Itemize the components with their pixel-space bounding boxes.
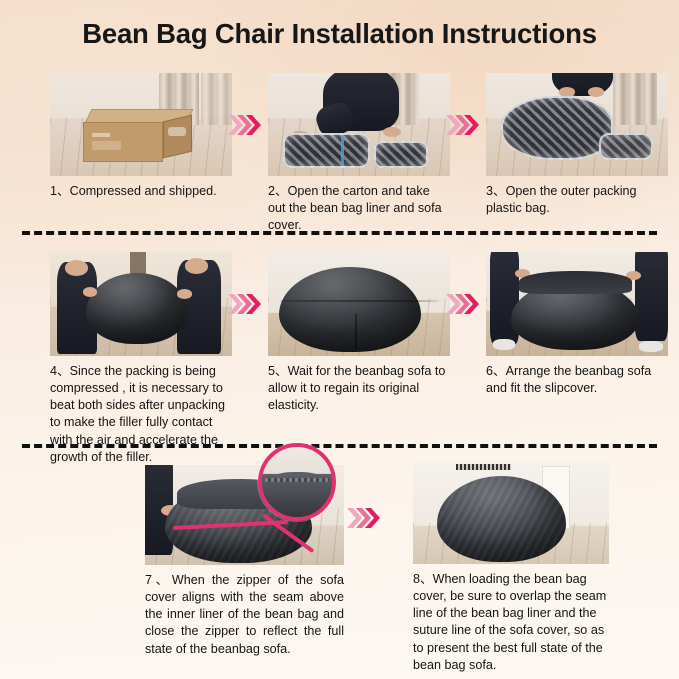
step-8-cell: 8、When loading the bean bag cover, be su… — [413, 462, 609, 674]
step-6-caption: 6、Arrange the beanbag sofa and fit the s… — [486, 363, 668, 397]
step-2-cell: 2、Open the carton and take out the bean … — [268, 73, 450, 234]
step-7-cell: 7、When the zipper of the sofa cover alig… — [145, 465, 344, 658]
step-5-cell: 5、Wait for the beanbag sofa to allow it … — [268, 252, 450, 414]
step-7-caption: 7、When the zipper of the sofa cover alig… — [145, 572, 344, 658]
step-7-photo-align-zipper — [145, 465, 344, 565]
step-8-caption: 8、When loading the bean bag cover, be su… — [413, 571, 609, 674]
infographic-poster: Bean Bag Chair Installation Instructions… — [0, 0, 679, 679]
step-6-photo-fit-slipcover — [486, 252, 668, 356]
step-2-photo-vacuum-bags — [268, 73, 450, 176]
step-3-caption: 3、Open the outer packing plastic bag. — [486, 183, 668, 217]
step-3-photo-open-plastic-bag — [486, 73, 668, 176]
step-1-caption: 1、Compressed and shipped. — [50, 183, 232, 200]
step-1-cell: 1、Compressed and shipped. — [50, 73, 232, 200]
step-5-photo-regain-elasticity — [268, 252, 450, 356]
step-4-caption: 4、Since the packing is being compressed … — [50, 363, 232, 466]
step-8-photo-finished-beanbag — [413, 462, 609, 564]
step-5-caption: 5、Wait for the beanbag sofa to allow it … — [268, 363, 450, 414]
step-1-photo-carton — [50, 73, 232, 176]
step-4-photo-beat-sides — [50, 252, 232, 356]
step-2-caption: 2、Open the carton and take out the bean … — [268, 183, 450, 234]
magnifier-callout-circle — [258, 443, 336, 521]
step-3-cell: 3、Open the outer packing plastic bag. — [486, 73, 668, 217]
step-6-cell: 6、Arrange the beanbag sofa and fit the s… — [486, 252, 668, 397]
step-4-cell: 4、Since the packing is being compressed … — [50, 252, 232, 466]
page-title: Bean Bag Chair Installation Instructions — [0, 18, 679, 50]
